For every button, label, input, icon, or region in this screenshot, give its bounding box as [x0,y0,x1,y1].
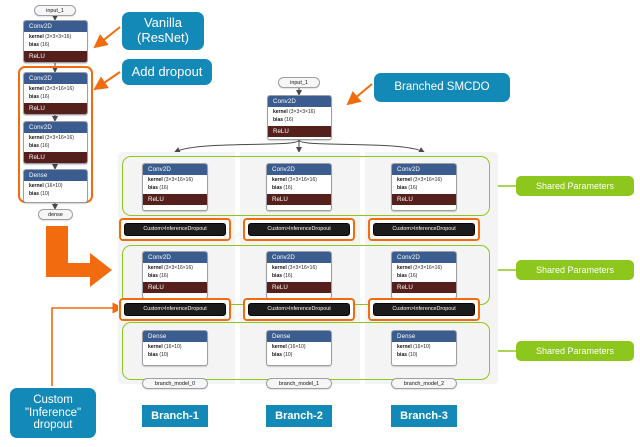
kernel-value: (16×10) [413,344,430,350]
node-header: Conv2D [267,164,331,175]
node-body: kernel (3×3×16×16) bias (16) [143,263,207,282]
callout-add-dropout-label: Add dropout [132,65,203,80]
kernel-value: (3×3×16×16) [45,86,74,92]
branched-root-conv2d: Conv2D kernel (3×3×3×16) bias (16) ReLU [267,95,332,140]
bias-value: (10) [40,191,49,197]
dropout-label: Custom>InferenceDropout [248,303,350,316]
kernel-label: kernel [273,109,288,115]
branch-1-conv2d-row-1: Conv2D kernel (3×3×16×16) bias (16) ReLU [266,163,332,211]
bias-label: bias [148,352,158,358]
branch-0-dense: Dense kernel (16×10) bias (10) [142,330,208,366]
branch-1-dropout-row-2: Custom>InferenceDropout [243,298,355,321]
transform-arrow [46,226,112,287]
bias-value: (16) [159,273,168,279]
shared-parameters-label-3: Shared Parameters [516,341,634,361]
bias-value: (10) [283,352,292,358]
bias-value: (16) [283,185,292,191]
node-header: Conv2D [267,252,331,263]
vanilla-output-pill: dense [38,209,73,220]
node-body: kernel (3×3×16×16) bias (16) [392,263,456,282]
branch-1-dense: Dense kernel (16×10) bias (10) [266,330,332,366]
dropout-label: Custom>InferenceDropout [373,223,475,236]
bias-label: bias [29,42,39,48]
branch-0-conv2d-row-2: Conv2D kernel (3×3×16×16) bias (16) ReLU [142,251,208,299]
branch-0-output-pill: branch_model_0 [142,378,208,389]
bias-label: bias [397,185,407,191]
kernel-label: kernel [29,34,44,40]
callout-branched-smcdo[interactable]: Branched SMCDO [374,73,510,102]
kernel-value: (3×3×16×16) [413,265,442,271]
vanilla-conv2d-block-1: Conv2D kernel (3×3×3×16) bias (16) ReLU [23,20,88,63]
kernel-value: (3×3×16×16) [288,265,317,271]
kernel-label: kernel [272,265,287,271]
bias-value: (16) [159,185,168,191]
callout-custom-inference-dropout[interactable]: Custom "Inference" dropout [10,388,96,438]
node-header: Conv2D [268,96,331,107]
node-header: Dense [24,170,87,181]
kernel-label: kernel [272,344,287,350]
bias-label: bias [273,117,283,123]
dropout-label: Custom>InferenceDropout [124,223,226,236]
node-body: kernel (3×3×16×16) bias (16) [267,263,331,282]
kernel-value: (3×3×16×16) [164,265,193,271]
kernel-label: kernel [397,344,412,350]
node-activation: ReLU [268,126,331,137]
node-activation: ReLU [143,282,207,293]
callout-custom-line3: dropout [33,419,72,432]
kernel-label: kernel [397,265,412,271]
branch-2-conv2d-row-1: Conv2D kernel (3×3×16×16) bias (16) ReLU [391,163,457,211]
node-header: Conv2D [392,164,456,175]
bias-label: bias [29,191,39,197]
vanilla-conv2d-block-2: Conv2D kernel (3×3×16×16) bias (16) ReLU [23,72,88,115]
kernel-value: (3×3×3×16) [289,109,315,115]
branch-label-1: Branch-1 [142,405,208,427]
branch-0-dropout-row-2: Custom>InferenceDropout [119,298,231,321]
node-body: kernel (3×3×16×16) bias (16) [267,175,331,194]
kernel-label: kernel [148,265,163,271]
node-header: Conv2D [392,252,456,263]
diagram-canvas: input_1 Conv2D kernel (3×3×3×16) bias (1… [0,0,640,447]
kernel-value: (3×3×16×16) [45,135,74,141]
node-header: Conv2D [24,21,87,32]
bias-value: (16) [40,143,49,149]
branch-2-dropout-row-1: Custom>InferenceDropout [368,218,480,241]
vanilla-conv2d-block-3: Conv2D kernel (3×3×16×16) bias (16) ReLU [23,121,88,164]
shared-parameters-label-1: Shared Parameters [516,176,634,196]
node-header: Conv2D [24,73,87,84]
bias-value: (16) [40,42,49,48]
bias-value: (16) [408,273,417,279]
bias-label: bias [397,273,407,279]
dropout-label: Custom>InferenceDropout [248,223,350,236]
node-header: Dense [143,331,207,342]
callout-vanilla[interactable]: Vanilla (ResNet) [122,12,204,50]
kernel-label: kernel [29,183,44,189]
kernel-label: kernel [29,135,44,141]
bias-value: (16) [283,273,292,279]
node-body: kernel (3×3×3×16) bias (16) [268,107,331,126]
callout-vanilla-line1: Vanilla [144,16,182,31]
dropout-label: Custom>InferenceDropout [124,303,226,316]
bias-label: bias [272,352,282,358]
node-body: kernel (16×10) bias (10) [143,342,207,362]
bias-label: bias [272,185,282,191]
bias-value: (16) [284,117,293,123]
node-body: kernel (3×3×16×16) bias (16) [24,133,87,152]
node-body: kernel (3×3×16×16) bias (16) [392,175,456,194]
callout-vanilla-line2: (ResNet) [137,31,189,46]
callout-branched-label: Branched SMCDO [394,81,489,94]
node-activation: ReLU [392,282,456,293]
bias-label: bias [29,94,39,100]
dropout-label: Custom>InferenceDropout [373,303,475,316]
kernel-label: kernel [29,86,44,92]
branch-2-conv2d-row-2: Conv2D kernel (3×3×16×16) bias (16) ReLU [391,251,457,299]
branch-2-dense: Dense kernel (16×10) bias (10) [391,330,457,366]
callout-add-dropout[interactable]: Add dropout [122,59,212,85]
callout-custom-line1: Custom [33,394,73,407]
node-activation: ReLU [392,194,456,205]
branched-input-pill: input_1 [278,77,320,88]
kernel-value: (3×3×16×16) [288,177,317,183]
node-activation: ReLU [267,282,331,293]
branch-1-output-pill: branch_model_1 [266,378,332,389]
kernel-label: kernel [397,177,412,183]
branch-0-conv2d-row-1: Conv2D kernel (3×3×16×16) bias (16) ReLU [142,163,208,211]
node-header: Dense [392,331,456,342]
node-body: kernel (3×3×16×16) bias (16) [24,84,87,103]
node-activation: ReLU [24,103,87,114]
bias-value: (16) [40,94,49,100]
node-activation: ReLU [24,152,87,163]
kernel-value: (3×3×3×16) [45,34,71,40]
branch-0-dropout-row-1: Custom>InferenceDropout [119,218,231,241]
bias-value: (10) [408,352,417,358]
node-body: kernel (16×10) bias (10) [267,342,331,362]
node-activation: ReLU [24,51,87,62]
vanilla-dense-block: Dense kernel (16×10) bias (10) [23,169,88,203]
node-header: Conv2D [143,252,207,263]
kernel-value: (16×10) [164,344,181,350]
branch-2-dropout-row-2: Custom>InferenceDropout [368,298,480,321]
kernel-value: (3×3×16×16) [413,177,442,183]
kernel-label: kernel [148,344,163,350]
callout-custom-line2: "Inference" [25,407,81,420]
node-body: kernel (16×10) bias (10) [24,181,87,201]
kernel-value: (3×3×16×16) [164,177,193,183]
branch-label-3: Branch-3 [391,405,457,427]
bias-value: (16) [408,185,417,191]
node-header: Conv2D [143,164,207,175]
node-header: Dense [267,331,331,342]
branch-1-conv2d-row-2: Conv2D kernel (3×3×16×16) bias (16) ReLU [266,251,332,299]
kernel-value: (16×10) [45,183,62,189]
bias-label: bias [148,273,158,279]
node-body: kernel (3×3×3×16) bias (16) [24,32,87,51]
kernel-label: kernel [272,177,287,183]
branch-1-dropout-row-1: Custom>InferenceDropout [243,218,355,241]
bias-label: bias [29,143,39,149]
bias-label: bias [272,273,282,279]
branch-label-2: Branch-2 [266,405,332,427]
vanilla-input-pill: input_1 [34,5,76,16]
node-body: kernel (3×3×16×16) bias (16) [143,175,207,194]
branch-2-output-pill: branch_model_2 [391,378,457,389]
node-header: Conv2D [24,122,87,133]
kernel-value: (16×10) [288,344,305,350]
node-activation: ReLU [143,194,207,205]
node-activation: ReLU [267,194,331,205]
bias-label: bias [397,352,407,358]
node-body: kernel (16×10) bias (10) [392,342,456,362]
bias-value: (10) [159,352,168,358]
bias-label: bias [148,185,158,191]
kernel-label: kernel [148,177,163,183]
shared-parameters-label-2: Shared Parameters [516,260,634,280]
